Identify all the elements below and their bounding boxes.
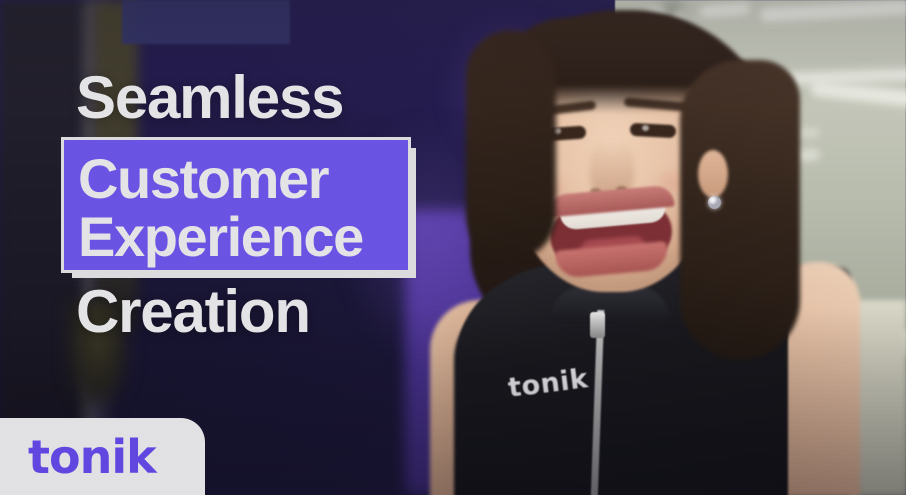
headline-line-1: Seamless [76, 68, 343, 128]
video-frame: tonik Seamless Custom [0, 0, 906, 495]
headline-highlight-block: Customer Experience [64, 140, 408, 270]
highlight-box: Customer Experience [64, 140, 408, 270]
brand-logo-panel: tonik [0, 418, 205, 495]
headline-line-2: Creation [76, 282, 310, 342]
brand-wordmark: tonik [28, 434, 156, 480]
headline-highlight-line-1: Customer [78, 150, 408, 208]
highlight-box-text: Customer Experience [64, 140, 408, 270]
headline-highlight-line-2: Experience [78, 208, 408, 266]
